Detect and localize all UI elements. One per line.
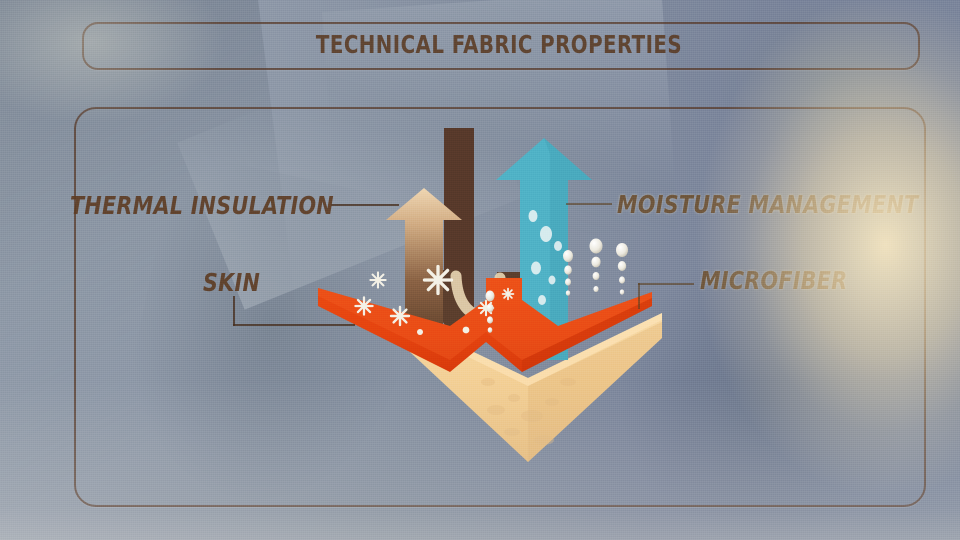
callout-moisture-management: MOISTURE MANAGEMENT <box>617 190 918 219</box>
leader-line-microfiber-vertical <box>638 283 640 309</box>
leader-line-microfiber-horizontal <box>638 283 694 285</box>
callout-microfiber: MICROFIBER <box>700 266 847 295</box>
callout-skin: SKIN <box>203 268 260 297</box>
leader-line-thermal <box>331 204 399 206</box>
leader-line-moisture <box>566 203 612 205</box>
page-title: TECHNICAL FABRIC PROPERTIES <box>132 22 866 66</box>
leader-line-skin-vertical <box>233 296 235 326</box>
leader-line-skin-horizontal <box>233 324 355 326</box>
fabric-cutaway-diagram <box>300 110 670 470</box>
tag-photo: TECHNICAL FABRIC PROPERTIES <box>0 0 960 540</box>
callout-thermal-insulation: THERMAL INSULATION <box>70 191 334 220</box>
